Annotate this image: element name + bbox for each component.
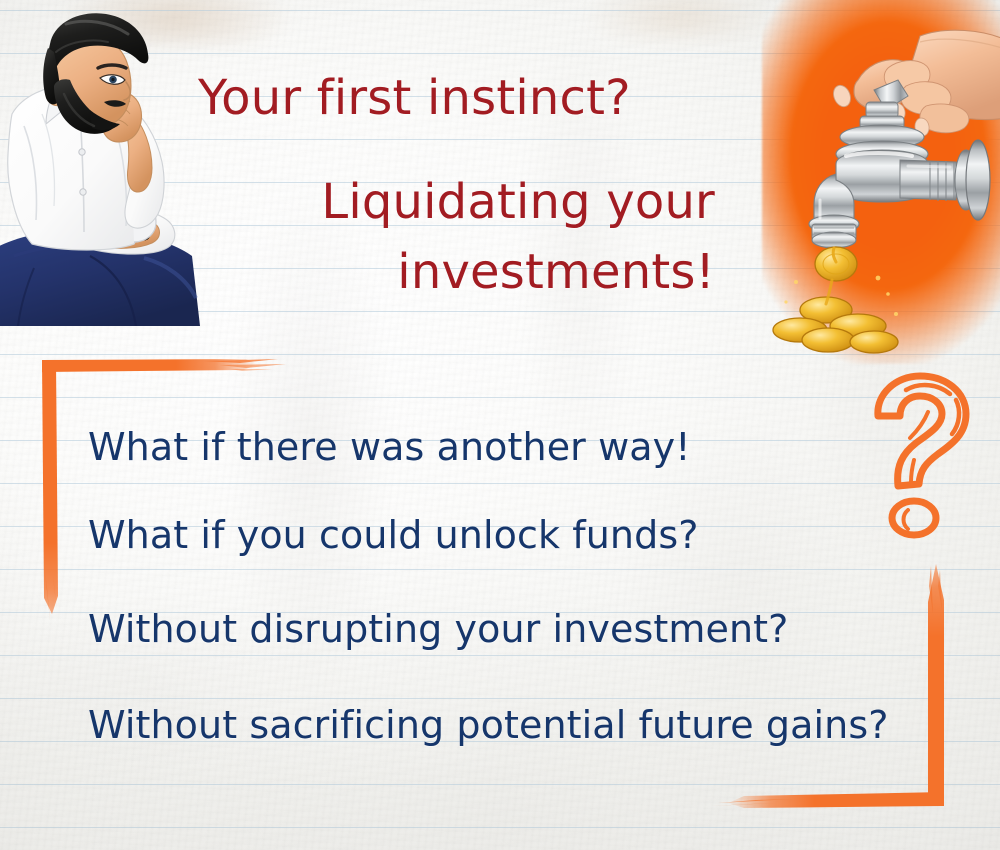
- poster-canvas: Your first instinct? Liquidating your in…: [0, 0, 1000, 850]
- bracket-top-left: [34, 352, 334, 642]
- body-line-2: What if you could unlock funds?: [88, 516, 699, 554]
- body-line-3: Without disrupting your investment?: [88, 610, 788, 648]
- hand-group: [830, 30, 1000, 137]
- headline-line-1: Your first instinct?: [198, 74, 631, 122]
- body-line-4: Without sacrificing potential future gai…: [88, 706, 889, 744]
- gold-coins-group: [773, 247, 898, 353]
- question-mark-doodle: [862, 368, 982, 548]
- body-line-1: What if there was another way!: [88, 428, 691, 466]
- tap-with-coins-illustration: [770, 14, 1000, 354]
- pensive-man-illustration: [0, 6, 212, 326]
- headline-line-3: investments!: [397, 248, 715, 296]
- headline-line-2: Liquidating your: [321, 178, 715, 226]
